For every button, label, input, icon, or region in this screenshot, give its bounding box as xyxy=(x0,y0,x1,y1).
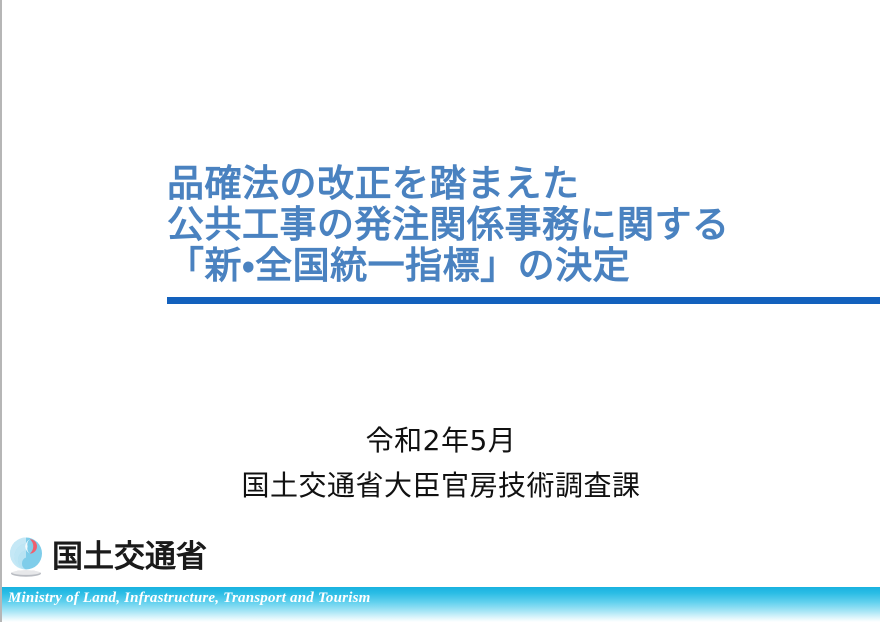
ministry-english-name: Ministry of Land, Infrastructure, Transp… xyxy=(8,590,370,607)
byline-organization: 国土交通省大臣官房技術調査課 xyxy=(2,463,880,508)
page-title: 品確法の改正を踏まえた 公共工事の発注関係事務に関する 「新・全国統一指標」の決… xyxy=(167,163,880,286)
title-slide: 品確法の改正を踏まえた 公共工事の発注関係事務に関する 「新・全国統一指標」の決… xyxy=(0,0,880,622)
footer: 国土交通省 Ministry of Land, Infrastructure, … xyxy=(2,534,880,622)
footer-gradient-band: Ministry of Land, Infrastructure, Transp… xyxy=(2,587,880,622)
mlit-swirl-logo-icon xyxy=(6,536,46,578)
title-line-1: 品確法の改正を踏まえた xyxy=(167,163,880,204)
ministry-wordmark: 国土交通省 xyxy=(52,542,207,573)
ministry-logo: 国土交通省 xyxy=(6,534,207,580)
title-underline-rule xyxy=(167,297,880,304)
byline-date: 令和2年5月 xyxy=(2,418,880,463)
title-line-3: 「新・全国統一指標」の決定 xyxy=(167,245,880,286)
title-line-2: 公共工事の発注関係事務に関する xyxy=(167,204,880,245)
byline: 令和2年5月 国土交通省大臣官房技術調査課 xyxy=(2,418,880,508)
